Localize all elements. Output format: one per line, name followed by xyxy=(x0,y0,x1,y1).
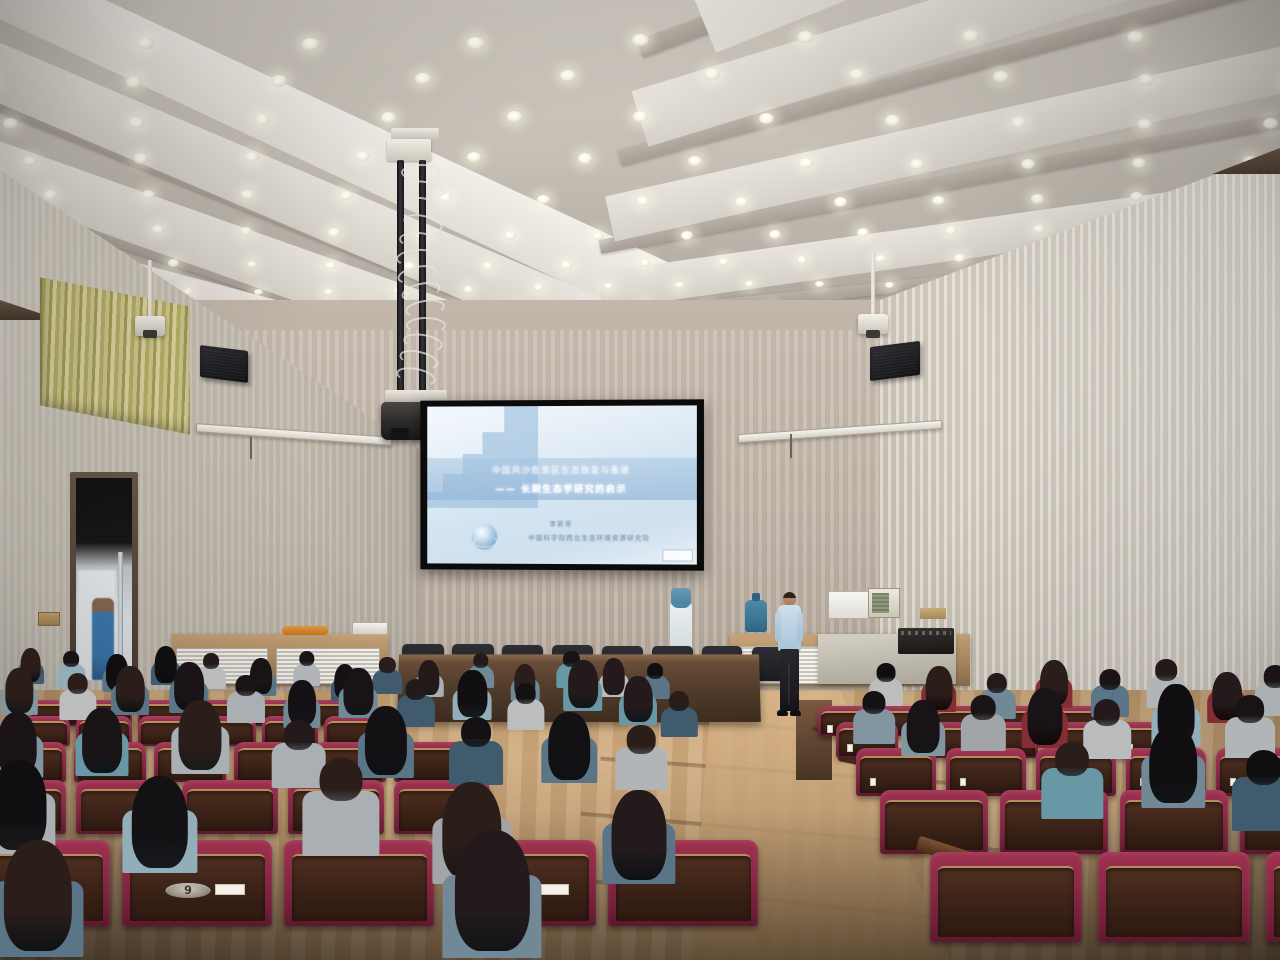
ceiling-downlight xyxy=(142,190,155,199)
audience-ponytail xyxy=(571,727,588,761)
ceiling-downlight xyxy=(561,261,572,269)
ceiling-projector-right xyxy=(858,252,888,338)
audience-hair xyxy=(568,660,598,708)
audience-member xyxy=(440,830,545,960)
ceiling-downlight xyxy=(483,262,494,270)
audience-head xyxy=(1094,699,1120,725)
audience-head xyxy=(67,673,88,694)
water-jug xyxy=(745,600,767,632)
ceiling-downlight xyxy=(633,111,648,122)
ceiling-downlight xyxy=(1011,117,1026,128)
ceiling-downlight xyxy=(152,225,164,234)
open-doorway[interactable] xyxy=(70,472,138,680)
ceiling-downlight xyxy=(945,226,957,235)
ceiling-downlight xyxy=(126,76,142,88)
presenter-shoe-right xyxy=(790,710,801,716)
ceiling-downlight xyxy=(340,191,353,200)
slide-title: 中国风沙危害区生态恢复与重建 xyxy=(427,464,697,476)
slide-subtitle: —— 长期生态学研究的启示 xyxy=(427,482,697,495)
audience-head xyxy=(299,651,314,666)
audience-member xyxy=(226,674,266,742)
ceiling-downlight xyxy=(168,259,179,267)
ceiling-downlight xyxy=(759,113,774,124)
ceiling-downlight xyxy=(241,190,254,199)
ceiling-downlight xyxy=(255,114,270,125)
audience-head xyxy=(877,663,896,682)
audience-head xyxy=(473,653,488,668)
ceiling-downlight xyxy=(849,69,865,81)
ceiling-downlight xyxy=(3,118,18,129)
ceiling-downlight xyxy=(356,151,370,161)
presenter-arm-left xyxy=(775,612,781,642)
audience-ponytail xyxy=(1175,744,1194,783)
audience-head xyxy=(987,673,1007,693)
ceiling-downlight xyxy=(137,37,154,49)
ceiling-downlight xyxy=(324,289,333,295)
ceiling-downlight xyxy=(467,37,484,49)
auditorium-seat[interactable] xyxy=(930,852,1082,942)
audience-head xyxy=(1100,669,1121,690)
ceiling-downlight xyxy=(735,197,748,206)
seat-back-panel xyxy=(1274,866,1280,936)
audience-head xyxy=(406,679,427,700)
ceiling-downlight xyxy=(134,153,148,163)
small-whiteboard xyxy=(828,591,870,619)
av-control-panel[interactable] xyxy=(868,588,900,618)
audience-head xyxy=(1055,742,1089,776)
audience-head xyxy=(515,683,536,704)
audience-member xyxy=(120,776,199,910)
ceiling-downlight xyxy=(718,258,729,266)
audience-ponytail xyxy=(387,722,404,756)
audience-ponytail xyxy=(641,810,663,855)
ceiling-downlight xyxy=(857,228,869,237)
audience-ponytail xyxy=(639,687,651,710)
seat-back-panel xyxy=(1106,866,1243,936)
ceiling-downlight xyxy=(1031,194,1044,203)
audience-ponytail xyxy=(1046,701,1060,730)
audience-shoulders xyxy=(1232,777,1280,830)
water-cooler-jug xyxy=(671,588,691,608)
orange-objects-on-counter xyxy=(282,626,328,635)
audience-hair xyxy=(4,840,72,951)
audience-head xyxy=(319,758,362,801)
ceiling-downlight xyxy=(815,281,824,287)
wall-speaker-left xyxy=(200,345,248,383)
audience-ponytail xyxy=(131,677,143,700)
audience-head xyxy=(669,691,689,711)
audience-member xyxy=(300,756,382,893)
ceiling-downlight xyxy=(560,70,576,82)
seat-back-panel xyxy=(938,866,1075,936)
audience-head xyxy=(1156,659,1178,681)
ceiling-downlight xyxy=(636,196,649,205)
audience-hair xyxy=(0,760,46,850)
projector-cable-coil xyxy=(401,164,447,394)
slide-author: 李新荣 xyxy=(427,518,697,529)
presenter-arm-right xyxy=(797,612,803,642)
ceiling-downlight xyxy=(1127,31,1144,43)
ceiling-downlight xyxy=(245,152,259,162)
ceiling-downlight xyxy=(640,259,651,267)
ceiling-downlight xyxy=(885,115,900,126)
audience-hair xyxy=(179,700,222,770)
seat-sticker xyxy=(827,725,833,733)
seat-sticker xyxy=(215,884,245,895)
auditorium-seat[interactable] xyxy=(1266,852,1280,942)
ceiling-downlight xyxy=(381,112,396,123)
ceiling-downlight xyxy=(797,256,808,264)
projection-screen[interactable]: 中国风沙危害区生态恢复与重建 —— 长期生态学研究的启示 李新荣 中国科学院西北… xyxy=(420,399,704,570)
ceiling-downlight xyxy=(932,196,945,205)
ceiling-downlight xyxy=(681,231,693,240)
presenter xyxy=(776,592,802,720)
wall-speaker-right xyxy=(870,341,920,381)
audience-head xyxy=(379,657,395,673)
ceiling-downlight xyxy=(954,254,965,262)
audience-member xyxy=(900,700,946,777)
audience-member xyxy=(852,690,896,764)
audience-ponytail xyxy=(495,858,525,919)
audience-member xyxy=(0,840,86,960)
seat-sticker xyxy=(870,778,876,786)
audience-member xyxy=(1140,726,1207,839)
ceiling-downlight xyxy=(962,30,979,42)
ceiling-downlight xyxy=(834,197,847,206)
presenter-shoe-left xyxy=(777,710,788,716)
audience-member xyxy=(600,790,677,920)
audio-amplifier-rack xyxy=(898,628,954,654)
audience-shoulders xyxy=(227,691,265,723)
ceiling-downlight xyxy=(254,289,263,295)
slide-organization: 中国科学院西北生态环境资源研究院 xyxy=(492,532,686,543)
ceiling-downlight xyxy=(769,230,781,239)
audience-ponytail xyxy=(162,797,185,843)
white-box-on-counter xyxy=(352,622,388,635)
ceiling-downlight xyxy=(44,190,57,199)
audience-head xyxy=(1264,665,1280,687)
audience-hair xyxy=(907,700,940,753)
ceiling-downlight xyxy=(1137,119,1152,130)
audience-member xyxy=(1040,740,1105,849)
projector-lens xyxy=(391,428,409,440)
ceiling-downlight xyxy=(23,156,37,166)
wall-sign xyxy=(920,608,946,619)
ceiling-downlight xyxy=(1132,158,1146,168)
audience-head xyxy=(1246,750,1280,786)
ceiling-projector-left xyxy=(135,260,165,338)
audience-member xyxy=(1230,748,1280,862)
audience-member xyxy=(540,712,599,811)
seat-sticker xyxy=(960,778,966,786)
ceiling-downlight xyxy=(797,31,814,43)
ceiling-downlight xyxy=(1033,225,1045,234)
ceiling-downlight xyxy=(271,75,287,87)
audience-head xyxy=(627,725,656,754)
audience-head xyxy=(461,717,491,747)
audience-head xyxy=(236,675,257,696)
ceiling-downlight xyxy=(1138,74,1154,86)
ceiling-downlight xyxy=(799,158,813,168)
ceiling-downlight xyxy=(993,71,1009,83)
ceiling-downlight xyxy=(464,286,473,292)
audience-ponytail xyxy=(1177,698,1192,728)
ceiling-downlight xyxy=(578,153,592,163)
presenter-head xyxy=(783,592,796,606)
audience-head xyxy=(862,691,885,714)
audience-head xyxy=(971,695,996,720)
audience-head xyxy=(1236,695,1264,723)
ceiling-downlight xyxy=(467,152,481,162)
ceiling-downlight xyxy=(688,156,702,166)
lecture-hall-photo: 中国风沙危害区生态恢复与重建 —— 长期生态学研究的启示 李新荣 中国科学院西北… xyxy=(0,0,1280,960)
auditorium-seat[interactable] xyxy=(1098,852,1250,942)
presentation-slide: 中国风沙危害区生态恢复与重建 —— 长期生态学研究的启示 李新荣 中国科学院西北… xyxy=(427,405,697,564)
audience-member xyxy=(960,694,1007,773)
wall-outlet-plate xyxy=(38,612,60,626)
audience-head xyxy=(284,720,314,750)
ceiling-downlight xyxy=(537,195,550,204)
ceiling-downlight xyxy=(129,117,144,128)
ceiling-downlight xyxy=(675,282,684,288)
ceiling-downlight xyxy=(507,111,522,122)
audience-head xyxy=(63,651,79,667)
audience-hair xyxy=(6,668,33,713)
audience-hair xyxy=(82,708,122,773)
ceiling-downlight xyxy=(302,38,319,50)
ceiling-downlight xyxy=(632,34,649,46)
ceiling-downlight xyxy=(415,73,431,85)
presenter-trousers xyxy=(780,649,799,711)
ceiling-downlight xyxy=(1263,118,1278,129)
slide-corner-badge xyxy=(662,549,692,561)
